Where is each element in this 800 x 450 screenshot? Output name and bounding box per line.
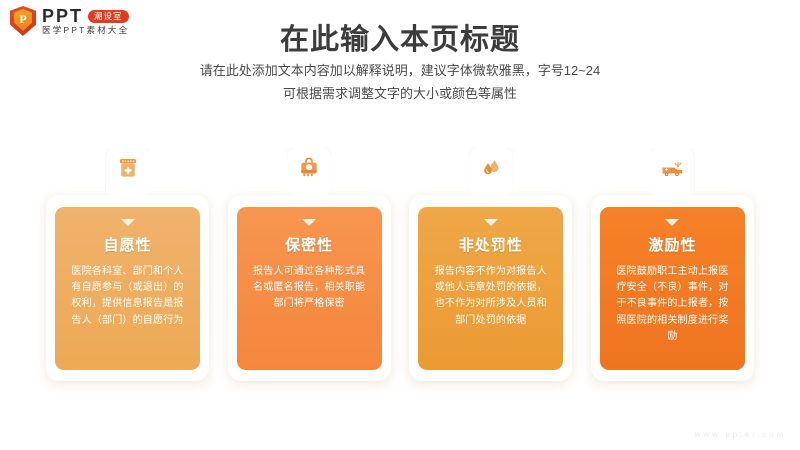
card-frame: 自愿性 医院各科室、部门和个人有自愿参与（或退出）的权利，提供信息报告是报告人（… <box>46 195 209 381</box>
blood-drop-icon <box>479 156 503 180</box>
chevron-down-icon <box>121 219 135 226</box>
card-body: 非处罚性 报告内容不作为对报告人或他人违章处罚的依据，也不作为对所涉及人员和部门… <box>418 207 563 370</box>
card-item[interactable]: 非处罚性 报告内容不作为对报告人或他人违章处罚的依据，也不作为对所涉及人员和部门… <box>409 148 572 381</box>
card-item[interactable]: 自愿性 医院各科室、部门和个人有自愿参与（或退出）的权利，提供信息报告是报告人（… <box>46 148 209 381</box>
page-subtitle-line-1: 请在此处添加文本内容加以解释说明，建议字体微软雅黑，字号12~24 <box>0 60 800 83</box>
page-title: 在此输入本页标题 <box>0 16 800 58</box>
chevron-down-icon <box>484 219 498 226</box>
ambulance-icon <box>660 156 684 180</box>
medicine-jar-icon <box>116 156 140 180</box>
card-body: 激励性 医院鼓励职工主动上报医疗安全（不良）事件，对于不良事件的上报者，按照医院… <box>600 207 745 370</box>
card-title: 保密性 <box>247 234 372 255</box>
card-text: 医院鼓励职工主动上报医疗安全（不良）事件，对于不良事件的上报者，按照医院的相关制… <box>610 264 735 345</box>
cards-row: 自愿性 医院各科室、部门和个人有自愿参与（或退出）的权利，提供信息报告是报告人（… <box>46 148 754 381</box>
card-title: 自愿性 <box>65 234 190 255</box>
medical-bag-icon <box>297 156 321 180</box>
card-item[interactable]: 保密性 报告人可通过各种形式具名或匿名报告，相关职能部门将严格保密 <box>228 148 391 381</box>
card-title: 非处罚性 <box>428 234 553 255</box>
card-text: 医院各科室、部门和个人有自愿参与（或退出）的权利，提供信息报告是报告人（部门）的… <box>65 264 190 329</box>
card-frame: 激励性 医院鼓励职工主动上报医疗安全（不良）事件，对于不良事件的上报者，按照医院… <box>591 195 754 381</box>
card-text: 报告内容不作为对报告人或他人违章处罚的依据，也不作为对所涉及人员和部门处罚的依据 <box>428 264 553 329</box>
card-text: 报告人可通过各种形式具名或匿名报告，相关职能部门将严格保密 <box>247 264 372 313</box>
page-subtitle-line-2: 可根据需求调整文字的大小或颜色等属性 <box>0 83 800 106</box>
card-frame: 非处罚性 报告内容不作为对报告人或他人违章处罚的依据，也不作为对所涉及人员和部门… <box>409 195 572 381</box>
page-subtitle: 请在此处添加文本内容加以解释说明，建议字体微软雅黑，字号12~24 可根据需求调… <box>0 60 800 106</box>
card-item[interactable]: 激励性 医院鼓励职工主动上报医疗安全（不良）事件，对于不良事件的上报者，按照医院… <box>591 148 754 381</box>
card-body: 自愿性 医院各科室、部门和个人有自愿参与（或退出）的权利，提供信息报告是报告人（… <box>55 207 200 370</box>
chevron-down-icon <box>665 219 679 226</box>
chevron-down-icon <box>302 219 316 226</box>
card-body: 保密性 报告人可通过各种形式具名或匿名报告，相关职能部门将严格保密 <box>237 207 382 370</box>
card-frame: 保密性 报告人可通过各种形式具名或匿名报告，相关职能部门将严格保密 <box>228 195 391 381</box>
card-title: 激励性 <box>610 234 735 255</box>
footer-watermark: www.ppter.com <box>695 429 786 439</box>
